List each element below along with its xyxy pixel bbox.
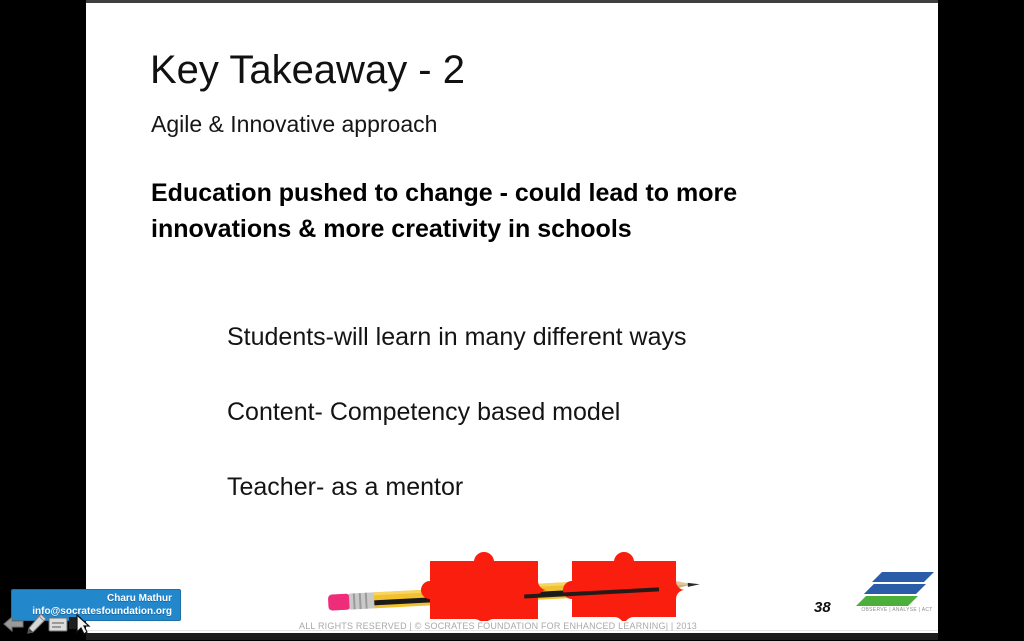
pencil-puzzle-illustration xyxy=(324,549,704,621)
logo-mark xyxy=(856,569,938,609)
logo-tagline: OBSERVE | ANALYSE | ACT xyxy=(856,607,938,613)
back-arrow-icon[interactable] xyxy=(2,612,26,636)
presenter-name: Charu Mathur xyxy=(12,592,172,605)
screenshot-viewport: Key Takeaway - 2 Agile & Innovative appr… xyxy=(0,0,1024,640)
copyright-notice: ALL RIGHTS RESERVED | © SOCRATES FOUNDAT… xyxy=(299,621,697,631)
presentation-slide: Key Takeaway - 2 Agile & Innovative appr… xyxy=(86,3,938,633)
page-number: 38 xyxy=(814,599,831,616)
socrates-logo: OBSERVE | ANALYSE | ACT xyxy=(856,569,938,621)
pencil-icon[interactable] xyxy=(24,612,48,636)
list-item: Students-will learn in many different wa… xyxy=(227,323,877,352)
slide-bottom-border xyxy=(86,633,938,640)
lead-statement: Education pushed to change - could lead … xyxy=(151,175,851,247)
page-title: Key Takeaway - 2 xyxy=(150,48,465,93)
note-icon[interactable] xyxy=(46,612,70,636)
cursor-icon[interactable] xyxy=(68,612,92,636)
bullet-list: Students-will learn in many different wa… xyxy=(227,323,877,502)
list-item: Content- Competency based model xyxy=(227,398,877,427)
annotation-toolbar[interactable] xyxy=(2,612,94,638)
list-item: Teacher- as a mentor xyxy=(227,473,877,502)
page-subtitle: Agile & Innovative approach xyxy=(151,111,437,138)
